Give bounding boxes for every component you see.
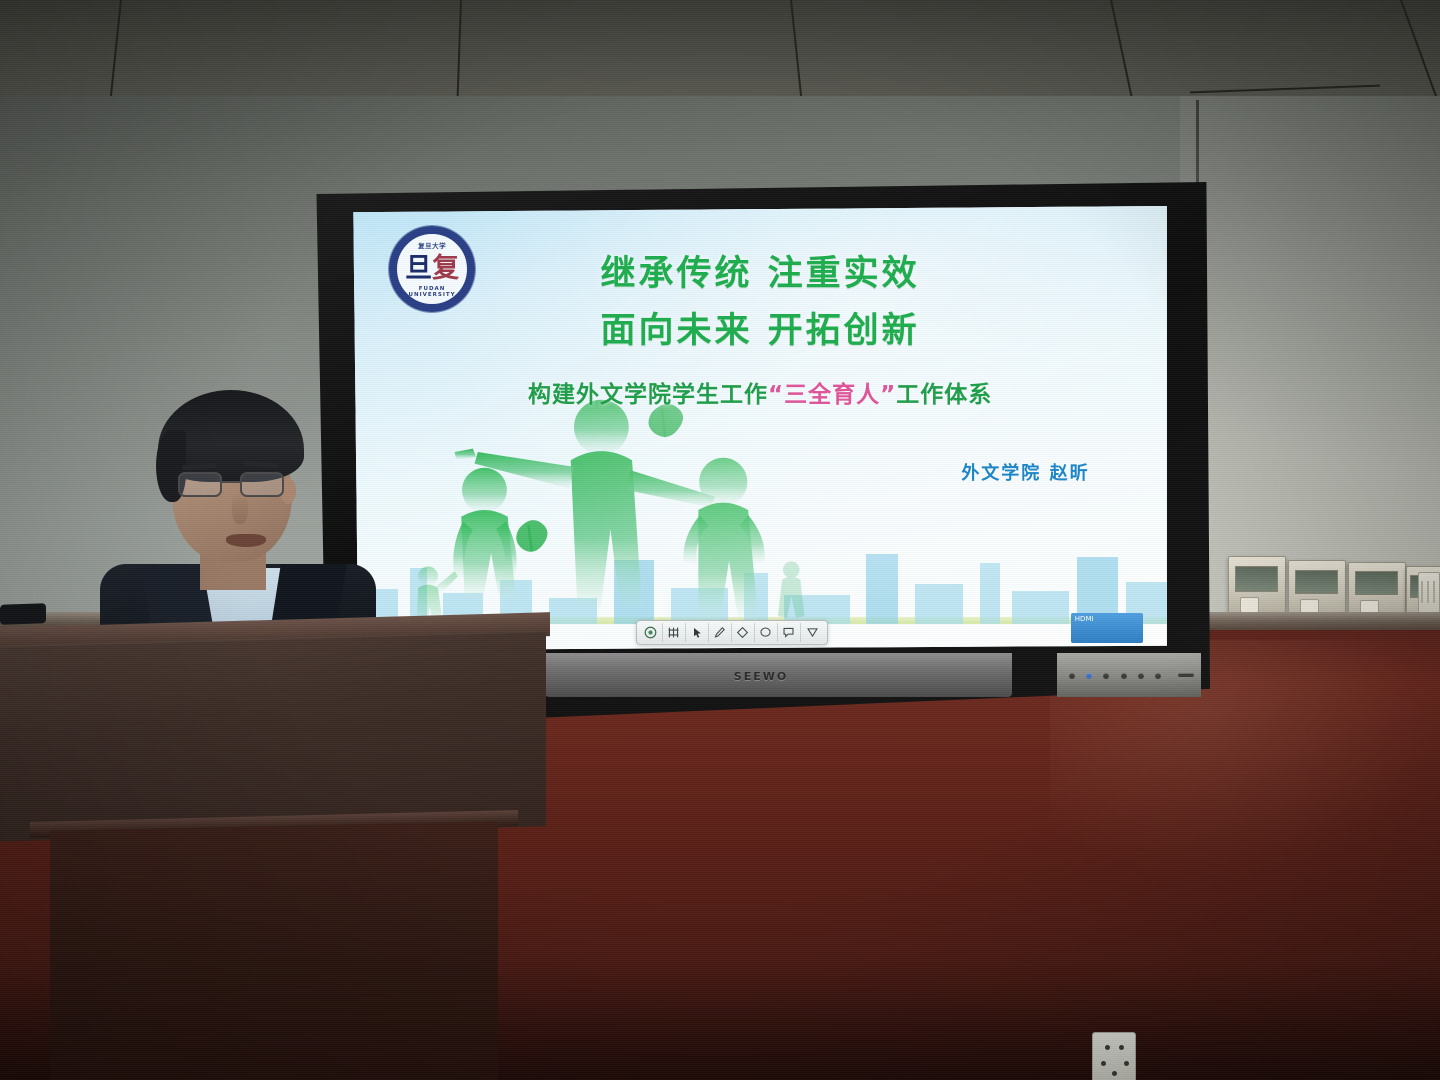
- children-silhouettes-svg: [386, 384, 842, 633]
- subtitle-highlight: “三全育人”: [768, 382, 896, 408]
- grid-icon[interactable]: [663, 623, 686, 642]
- lectern-base: [50, 821, 498, 1080]
- subtitle-suffix: 工作体系: [896, 382, 992, 408]
- cursor-icon[interactable]: [686, 623, 709, 642]
- presentation-slide: 复旦大学 旦复 FUDAN UNIVERSITY 继承传统 注重实效 面向未来 …: [353, 206, 1167, 650]
- microphone[interactable]: [0, 603, 46, 625]
- control-box-display: [1295, 570, 1339, 595]
- display-control-strip[interactable]: [1057, 653, 1201, 697]
- presenter-nose: [232, 492, 248, 524]
- display-panel[interactable]: 复旦大学 旦复 FUDAN UNIVERSITY 继承传统 注重实效 面向未来 …: [353, 206, 1167, 650]
- display-status-badge: HDMI: [1071, 613, 1143, 643]
- power-outlet[interactable]: [1092, 1032, 1136, 1080]
- wall-upper-right: [1180, 96, 1440, 636]
- slide-title-block: 继承传统 注重实效 面向未来 开拓创新 构建外文学院学生工作“三全育人”工作体系: [353, 246, 1167, 409]
- lasso-icon[interactable]: [755, 623, 778, 642]
- shape-icon[interactable]: [801, 623, 824, 642]
- lectern-front-face: [0, 630, 546, 842]
- glasses-lens-left: [178, 472, 222, 497]
- children-illustration: [386, 384, 842, 633]
- whiteboard-annotation-toolbar[interactable]: [636, 620, 828, 645]
- slide-title-line-2: 面向未来 开拓创新: [353, 303, 1167, 360]
- classroom-scene: 复旦大学 旦复 FUDAN UNIVERSITY 继承传统 注重实效 面向未来 …: [0, 0, 1440, 1080]
- callout-icon[interactable]: [778, 623, 801, 642]
- glasses-bridge: [222, 481, 240, 483]
- presenter-mouth: [226, 534, 266, 547]
- lectern: [0, 620, 550, 1080]
- display-brand-label: SEEWO: [734, 670, 788, 683]
- control-box-display: [1355, 571, 1399, 595]
- eraser-icon[interactable]: [732, 623, 755, 642]
- slide-byline: 外文学院 赵昕: [961, 459, 1089, 485]
- pen-icon[interactable]: [709, 623, 732, 642]
- target-icon[interactable]: [640, 623, 663, 642]
- patch-panel-ports: [1421, 581, 1438, 603]
- display-status-badge-label: HDMI: [1075, 615, 1094, 623]
- slide-subtitle: 构建外文学院学生工作“三全育人”工作体系: [353, 375, 1167, 409]
- control-box-display: [1235, 566, 1279, 592]
- control-box-button[interactable]: [1240, 597, 1259, 614]
- slide-title-line-1: 继承传统 注重实效: [353, 246, 1167, 303]
- glasses-lens-right: [240, 472, 284, 497]
- subtitle-prefix: 构建外文学院学生工作: [528, 382, 768, 408]
